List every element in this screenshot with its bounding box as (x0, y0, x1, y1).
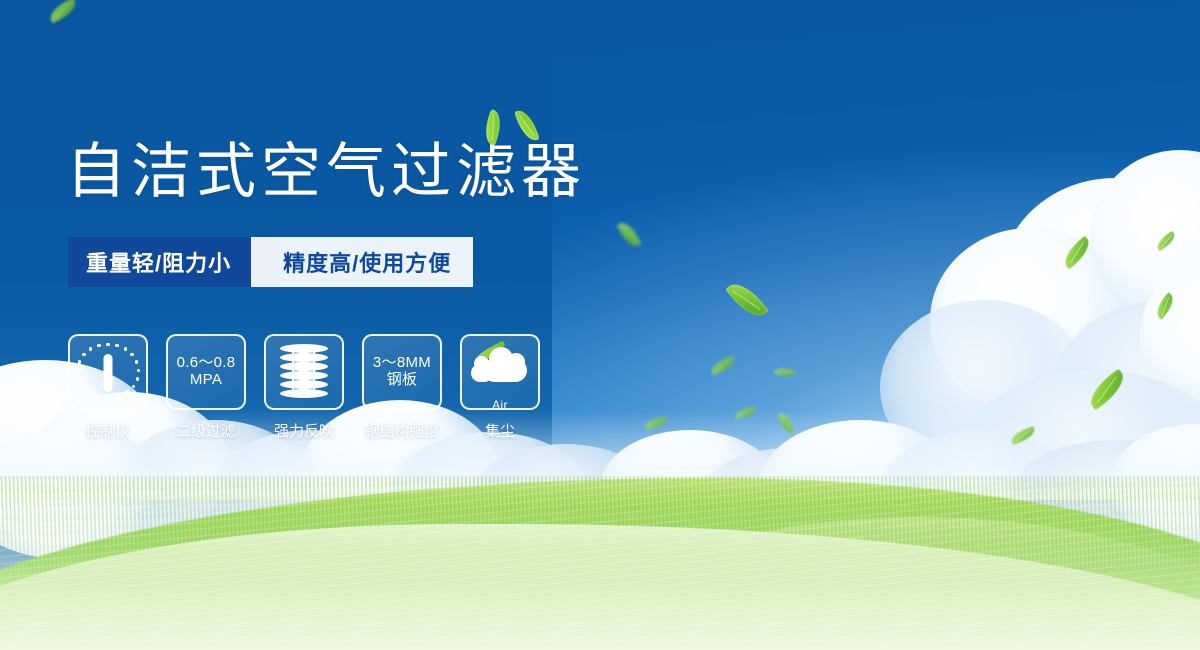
feature-item-secondary-filter[interactable]: 0.6～0.8 MPA 二级过滤 (166, 334, 246, 441)
feature-label: 强力反吹 (274, 420, 334, 441)
product-hero-banner: 自洁式空气过滤器 重量轻/阻力小 精度高/使用方便 (0, 0, 1200, 650)
feature-item-dust-collection[interactable]: Air 集尘 (460, 334, 540, 441)
blowback-stack-icon (280, 344, 328, 400)
pressure-line-2: MPA (177, 372, 236, 389)
feature-icon-box (264, 334, 344, 410)
feature-label: 控制仪 (85, 420, 130, 441)
air-cloud-icon: Air (469, 344, 531, 400)
air-caption: Air (469, 398, 531, 410)
feature-item-blowback[interactable]: 强力反吹 (264, 334, 344, 441)
subtitle-bar: 重量轻/阻力小 精度高/使用方便 (68, 237, 473, 287)
steel-line-2: 钢板 (373, 372, 431, 389)
feature-icon-box: Air (460, 334, 540, 410)
subtitle-left: 重量轻/阻力小 (68, 237, 251, 287)
cloud-big-icon (483, 358, 527, 382)
feature-label: 集尘 (485, 420, 515, 441)
feature-item-controller[interactable]: NO OFF 控制仪 (68, 334, 148, 441)
feature-label: 钢结构强度 (364, 420, 439, 441)
gauge-icon: NO OFF (77, 342, 139, 402)
subtitle-right: 精度高/使用方便 (277, 237, 473, 287)
page-title: 自洁式空气过滤器 (66, 142, 586, 202)
banner-content: 自洁式空气过滤器 重量轻/阻力小 精度高/使用方便 (0, 0, 1200, 650)
feature-icon-box: NO OFF (68, 334, 148, 410)
feature-icon-box: 3～8MM 钢板 (362, 334, 442, 410)
steel-line-1: 3～8MM (373, 354, 431, 371)
pressure-line-1: 0.6～0.8 (177, 354, 236, 371)
gauge-label-no: NO (77, 368, 87, 374)
feature-icon-box: 0.6～0.8 MPA (166, 334, 246, 410)
feature-label: 二级过滤 (176, 420, 236, 441)
gauge-needle-icon (104, 354, 113, 392)
feature-list: NO OFF 控制仪 0.6～0.8 MPA 二级过滤 (68, 334, 540, 441)
subtitle-divider (251, 237, 277, 287)
feature-item-steel-strength[interactable]: 3～8MM 钢板 钢结构强度 (362, 334, 442, 441)
gauge-label-off: OFF (123, 392, 136, 398)
steel-plate-text-icon: 3～8MM 钢板 (373, 355, 431, 389)
pressure-text-icon: 0.6～0.8 MPA (177, 355, 236, 389)
